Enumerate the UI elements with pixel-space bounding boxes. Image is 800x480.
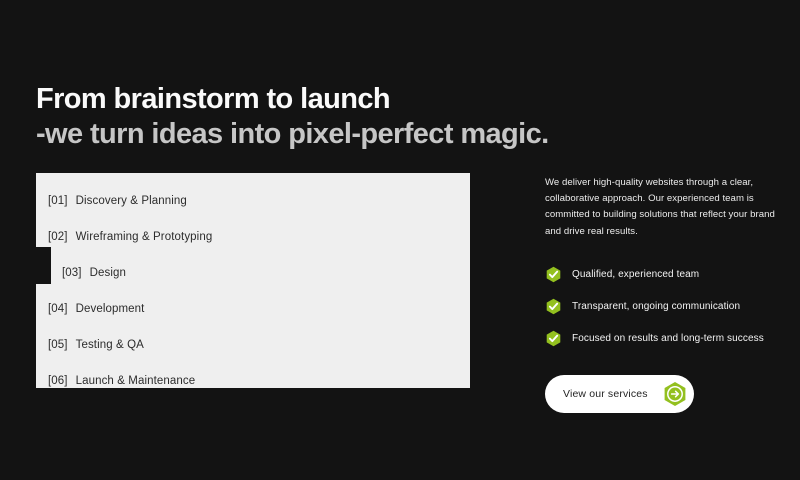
process-step-label: Testing & QA xyxy=(76,339,144,351)
process-steps-panel: [01]Discovery & Planning[02]Wireframing … xyxy=(36,173,470,388)
process-step-label: Discovery & Planning xyxy=(76,195,187,207)
process-step-label: Wireframing & Prototyping xyxy=(76,231,213,243)
heading-line-secondary: -we turn ideas into pixel-perfect magic. xyxy=(36,116,549,152)
heading-line-primary: From brainstorm to launch xyxy=(36,82,549,116)
process-step-item[interactable]: [04]Development xyxy=(36,291,470,327)
benefits-list: Qualified, experienced teamTransparent, … xyxy=(545,266,785,347)
hero-section: From brainstorm to launch -we turn ideas… xyxy=(0,0,800,480)
page-title: From brainstorm to launch -we turn ideas… xyxy=(36,82,549,152)
process-step-item[interactable]: [06]Launch & Maintenance xyxy=(36,363,470,399)
process-step-item[interactable]: [02]Wireframing & Prototyping xyxy=(36,219,470,255)
process-step-number: [06] xyxy=(48,375,68,387)
process-step-number: [04] xyxy=(48,303,68,315)
hexagon-check-icon xyxy=(545,298,562,315)
process-step-number: [03] xyxy=(62,267,82,279)
process-step-number: [01] xyxy=(48,195,68,207)
process-step-label: Design xyxy=(90,267,126,279)
process-step-number: [05] xyxy=(48,339,68,351)
info-column: We deliver high-quality websites through… xyxy=(545,175,785,413)
hexagon-check-icon xyxy=(545,330,562,347)
process-step-item[interactable]: [01]Discovery & Planning xyxy=(36,183,470,219)
process-steps-list: [01]Discovery & Planning[02]Wireframing … xyxy=(36,173,470,388)
benefit-text: Qualified, experienced team xyxy=(572,269,699,280)
cta-label: View our services xyxy=(563,388,648,400)
benefit-item: Qualified, experienced team xyxy=(545,266,785,283)
process-step-item[interactable]: [05]Testing & QA xyxy=(36,327,470,363)
benefit-item: Transparent, ongoing communication xyxy=(545,298,785,315)
arrow-right-circle-hexagon-icon xyxy=(662,381,688,407)
process-step-item[interactable]: [03]Design xyxy=(36,255,470,291)
process-step-number: [02] xyxy=(48,231,68,243)
panel-edge-notch xyxy=(36,247,51,284)
process-step-label: Launch & Maintenance xyxy=(76,375,196,387)
benefit-text: Transparent, ongoing communication xyxy=(572,301,740,312)
lead-paragraph: We deliver high-quality websites through… xyxy=(545,175,783,240)
view-our-services-button[interactable]: View our services xyxy=(545,375,694,413)
process-step-label: Development xyxy=(76,303,145,315)
benefit-text: Focused on results and long-term success xyxy=(572,333,764,344)
benefit-item: Focused on results and long-term success xyxy=(545,330,785,347)
hexagon-check-icon xyxy=(545,266,562,283)
